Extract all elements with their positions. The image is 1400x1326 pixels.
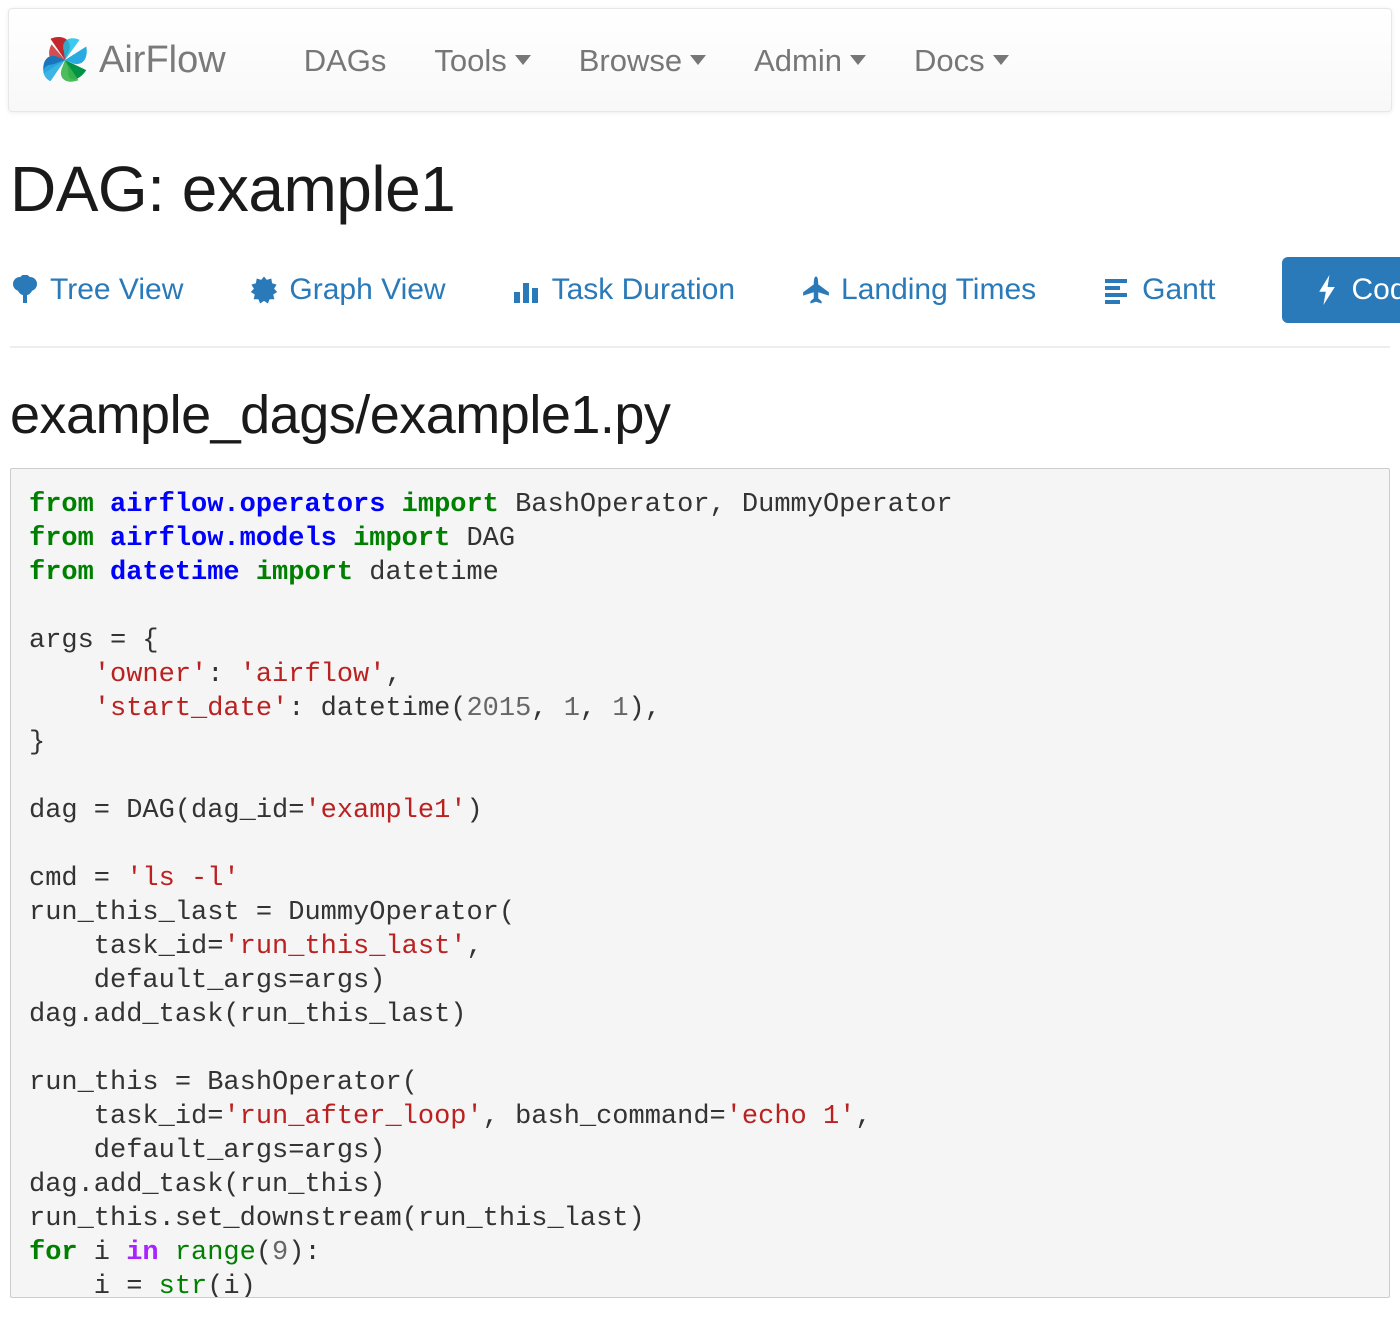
plane-icon	[801, 275, 831, 305]
nav-item-dags[interactable]: DAGs	[280, 45, 411, 76]
nav-link-docs[interactable]: Docs	[890, 45, 1033, 76]
tab-label-graph-view: Graph View	[289, 275, 445, 305]
chevron-down-icon	[850, 55, 866, 65]
tab-label-gantt: Gantt	[1142, 275, 1215, 305]
main-navbar: AirFlow DAGs Tools Browse Admin	[8, 8, 1392, 112]
nav-menu: DAGs Tools Browse Admin Docs	[280, 45, 1033, 76]
tab-landing-times[interactable]: Landing Times	[801, 263, 1036, 317]
nav-item-docs[interactable]: Docs	[890, 45, 1033, 76]
nav-link-tools[interactable]: Tools	[410, 45, 554, 76]
nav-label-admin: Admin	[754, 45, 842, 76]
tree-icon	[10, 275, 40, 305]
tab-label-task-duration: Task Duration	[552, 275, 735, 305]
bolt-icon	[1312, 275, 1342, 305]
certificate-icon	[249, 275, 279, 305]
tab-gantt[interactable]: Gantt	[1102, 263, 1215, 317]
source-code: from airflow.operators import BashOperat…	[29, 487, 1389, 1298]
chevron-down-icon	[993, 55, 1009, 65]
tab-label-tree-view: Tree View	[50, 275, 183, 305]
chevron-down-icon	[515, 55, 531, 65]
chevron-down-icon	[690, 55, 706, 65]
page-title: DAG: example1	[10, 154, 1390, 224]
nav-link-admin[interactable]: Admin	[730, 45, 890, 76]
tab-label-landing-times: Landing Times	[841, 275, 1036, 305]
tab-graph-view[interactable]: Graph View	[249, 263, 445, 317]
section-divider	[10, 346, 1390, 348]
tab-code[interactable]: Code	[1282, 257, 1400, 323]
brand-link[interactable]: AirFlow	[37, 32, 226, 88]
align-left-icon	[1102, 275, 1132, 305]
nav-link-browse[interactable]: Browse	[555, 45, 730, 76]
nav-label-dags: DAGs	[304, 45, 387, 76]
nav-link-dags[interactable]: DAGs	[280, 45, 411, 76]
nav-label-tools: Tools	[434, 45, 506, 76]
dag-view-tabs: Tree View Graph View Task Duration	[10, 252, 1390, 328]
tab-tree-view[interactable]: Tree View	[10, 263, 183, 317]
nav-item-tools[interactable]: Tools	[410, 45, 554, 76]
code-block: from airflow.operators import BashOperat…	[10, 468, 1390, 1298]
brand-label: AirFlow	[99, 41, 226, 79]
bar-chart-icon	[512, 275, 542, 305]
nav-item-admin[interactable]: Admin	[730, 45, 890, 76]
tab-task-duration[interactable]: Task Duration	[512, 263, 735, 317]
nav-label-browse: Browse	[579, 45, 682, 76]
airflow-pinwheel-logo-icon	[37, 32, 93, 88]
page-container: DAG: example1 Tree View Graph View	[0, 154, 1400, 1298]
file-title: example_dags/example1.py	[10, 386, 1390, 445]
nav-label-docs: Docs	[914, 45, 985, 76]
tab-label-code: Code	[1352, 275, 1400, 305]
nav-item-browse[interactable]: Browse	[555, 45, 730, 76]
